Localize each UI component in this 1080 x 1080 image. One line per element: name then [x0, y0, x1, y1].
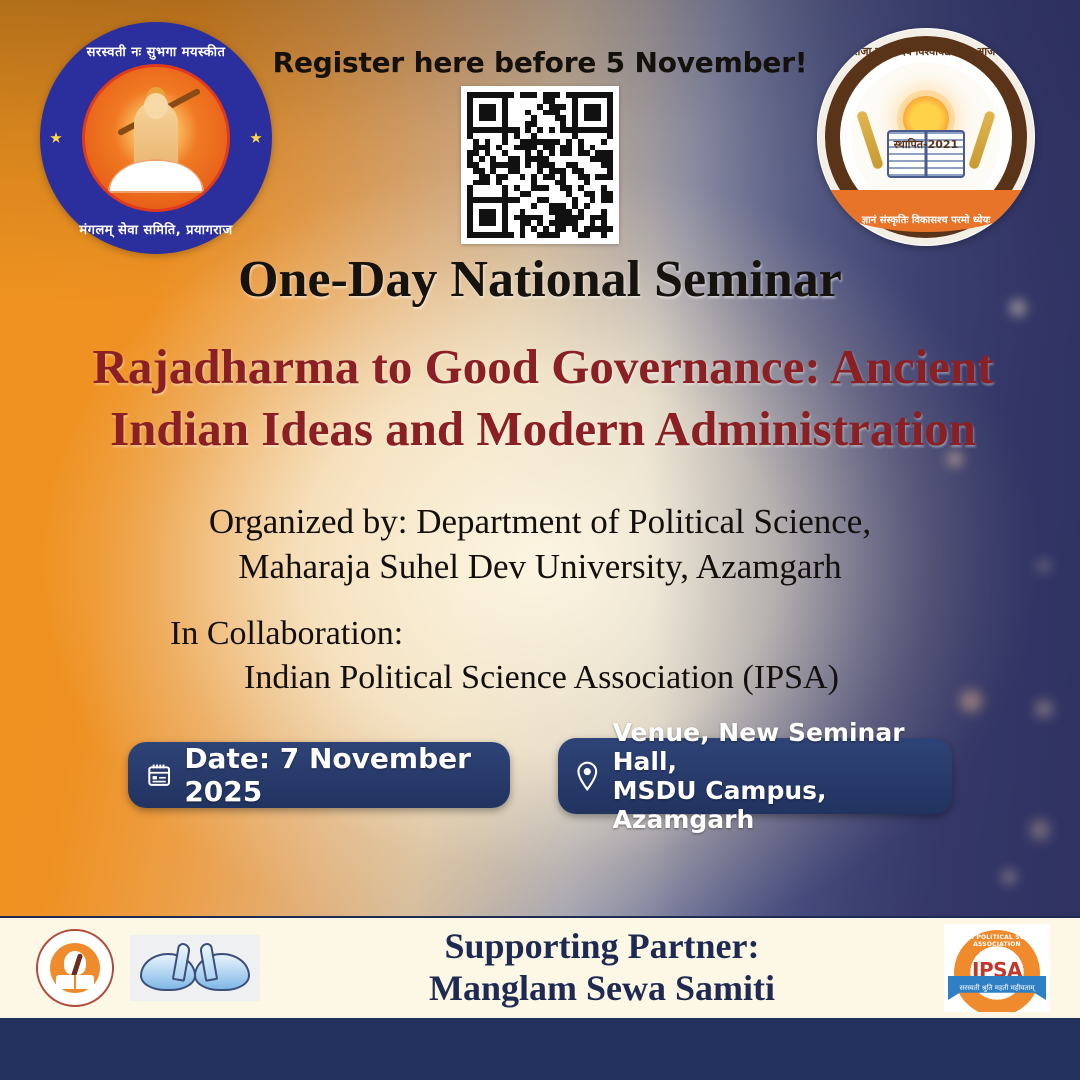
supporting-partner-block: Supporting Partner: Manglam Sewa Samiti: [260, 926, 944, 1010]
subtitle-line-1: Rajadharma to Good Governance: Ancient: [93, 339, 994, 394]
two-swans-icon: [130, 935, 260, 1001]
bottom-bar: [0, 1018, 1080, 1080]
logo-motto-band: ज्ञानं संस्कृतिः विकासश्च परमो ध्येयः: [817, 190, 1035, 232]
ipsa-logo: INDIAN POLITICAL SCIENCE ASSOCIATION IPS…: [944, 924, 1050, 1012]
swan-right: [196, 943, 250, 993]
lotus-icon: [108, 159, 204, 193]
date-badge-text: Date: 7 November 2025: [184, 742, 492, 808]
calendar-icon: [146, 759, 172, 791]
collaboration-label: In Collaboration:: [170, 615, 403, 652]
seminar-subtitle: Rajadharma to Good Governance: Ancient I…: [40, 336, 1046, 459]
ipsa-arc-text: INDIAN POLITICAL SCIENCE ASSOCIATION: [944, 934, 1050, 948]
venue-badge-text: Venue, New Seminar Hall, MSDU Campus, Az…: [613, 718, 936, 834]
vidhira-research-journal-logo: [36, 929, 114, 1007]
qr-code-matrix[interactable]: [467, 92, 613, 238]
open-book-icon: [56, 975, 94, 989]
date-badge: Date: 7 November 2025: [128, 742, 510, 808]
collaboration-name: Indian Political Science Association (IP…: [170, 656, 839, 700]
supporting-partner-label: Supporting Partner:: [445, 926, 760, 966]
swan-left: [140, 943, 194, 993]
logo-arc-bottom-text: मंगलम् सेवा समिति, प्रयागराज: [40, 220, 272, 238]
established-year: स्थापित-2021: [851, 137, 1001, 152]
seminar-poster: सरस्वती नः सुभगा मयस्कीत मंगलम् सेवा समि…: [0, 0, 1080, 1080]
location-pin-icon: [574, 759, 601, 793]
subtitle-line-2: Indian Ideas and Modern Administration: [110, 401, 976, 456]
register-cta: Register here before 5 November!: [0, 46, 1080, 79]
footer-bar: Supporting Partner: Manglam Sewa Samiti …: [0, 916, 1080, 1018]
venue-line-2: MSDU Campus, Azamgarh: [613, 776, 827, 834]
venue-line-1: Venue, New Seminar Hall,: [613, 718, 905, 776]
organizer-line-1: Organized by: Department of Political Sc…: [209, 502, 871, 541]
venue-badge: Venue, New Seminar Hall, MSDU Campus, Az…: [558, 738, 952, 814]
footer-left-logos: [0, 929, 260, 1007]
logo-motto-text: ज्ञानं संस्कृतिः विकासश्च परमो ध्येयः: [817, 212, 1035, 226]
saraswati-illustration: [82, 64, 230, 212]
supporting-partner-name: Manglam Sewa Samiti: [429, 968, 775, 1008]
deity-head: [144, 93, 168, 119]
page-title: One-Day National Seminar: [0, 250, 1080, 309]
organizer-line-2: Maharaja Suhel Dev University, Azamgarh: [238, 547, 841, 586]
organizer-block: Organized by: Department of Political Sc…: [0, 500, 1080, 590]
collaboration-block: In Collaboration: Indian Political Scien…: [170, 612, 839, 700]
qr-code[interactable]: [461, 86, 619, 244]
